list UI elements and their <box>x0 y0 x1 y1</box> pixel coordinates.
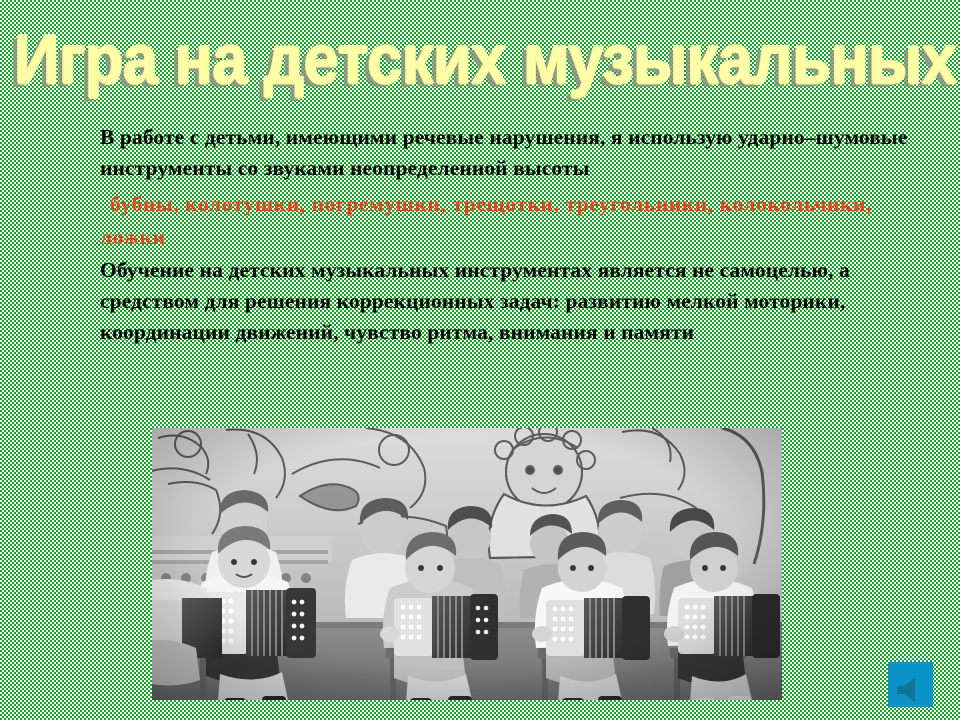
photo-illustration <box>152 428 782 700</box>
slide-title-text: Игра на детских музыкальных инструментах <box>14 16 932 106</box>
paragraph-intro: В работе с детьми, имеющими речевые нару… <box>100 122 926 184</box>
speaker-icon <box>896 677 926 703</box>
slide-photo <box>152 428 782 700</box>
paragraph-instruments-list: бубны, колотушки, погремушки, трещотки, … <box>100 188 926 254</box>
slide-body: В работе с детьми, имеющими речевые нару… <box>100 122 926 348</box>
slide-title: Игра на детских музыкальных инструментах… <box>14 16 914 100</box>
paragraph-goal: Обучение на детских музыкальных инструме… <box>100 255 926 348</box>
sound-button[interactable] <box>888 662 933 707</box>
presentation-slide: Игра на детских музыкальных инструментах… <box>0 0 960 720</box>
